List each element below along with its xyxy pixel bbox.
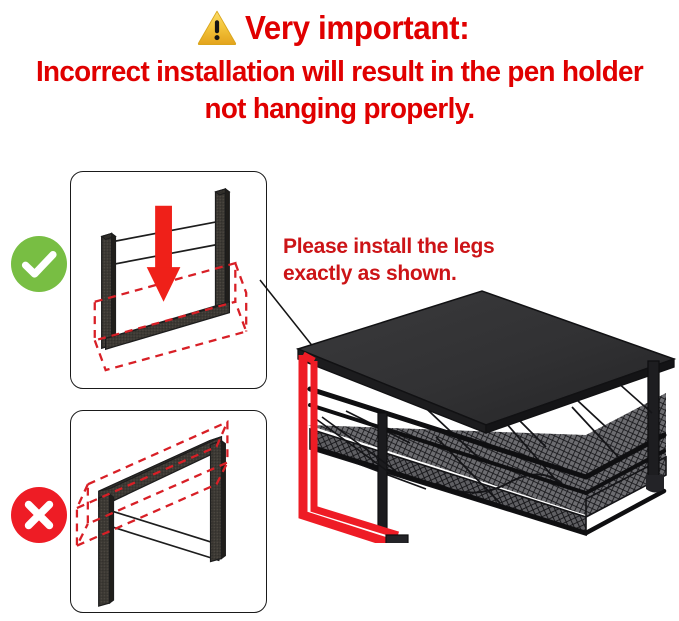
check-circle-icon: [10, 235, 68, 293]
subtitle-line-1: Incorrect installation will result in th…: [19, 54, 659, 91]
left-leg: [102, 233, 116, 348]
title-row: Very important:: [0, 4, 679, 50]
front-left-foot: [386, 535, 408, 543]
callout-line-1: Please install the legs: [283, 234, 573, 261]
left-leg: [99, 494, 114, 606]
page-title: Very important:: [245, 11, 469, 44]
correct-leg-orientation-diagram: [70, 171, 267, 389]
incorrect-leg-orientation-diagram: [70, 410, 267, 613]
x-circle-icon: [10, 486, 68, 544]
subtitle-line-2: not hanging properly.: [19, 91, 659, 128]
correct-leg-illustration: [71, 172, 266, 388]
right-leg: [216, 189, 230, 308]
header-block: Very important: Incorrect installation w…: [0, 0, 679, 140]
warning-triangle-icon: [197, 9, 237, 46]
top-shelf-panel: [298, 291, 674, 433]
incorrect-leg-illustration: [71, 411, 266, 612]
down-arrow-icon: [147, 206, 181, 302]
desk-organizer-monitor-stand: [286, 277, 679, 543]
product-illustration: [286, 277, 679, 543]
subtitle-warning-text: Incorrect installation will result in th…: [6, 54, 673, 128]
instruction-graphic: Very important: Incorrect installation w…: [0, 0, 679, 621]
right-leg: [211, 441, 226, 562]
